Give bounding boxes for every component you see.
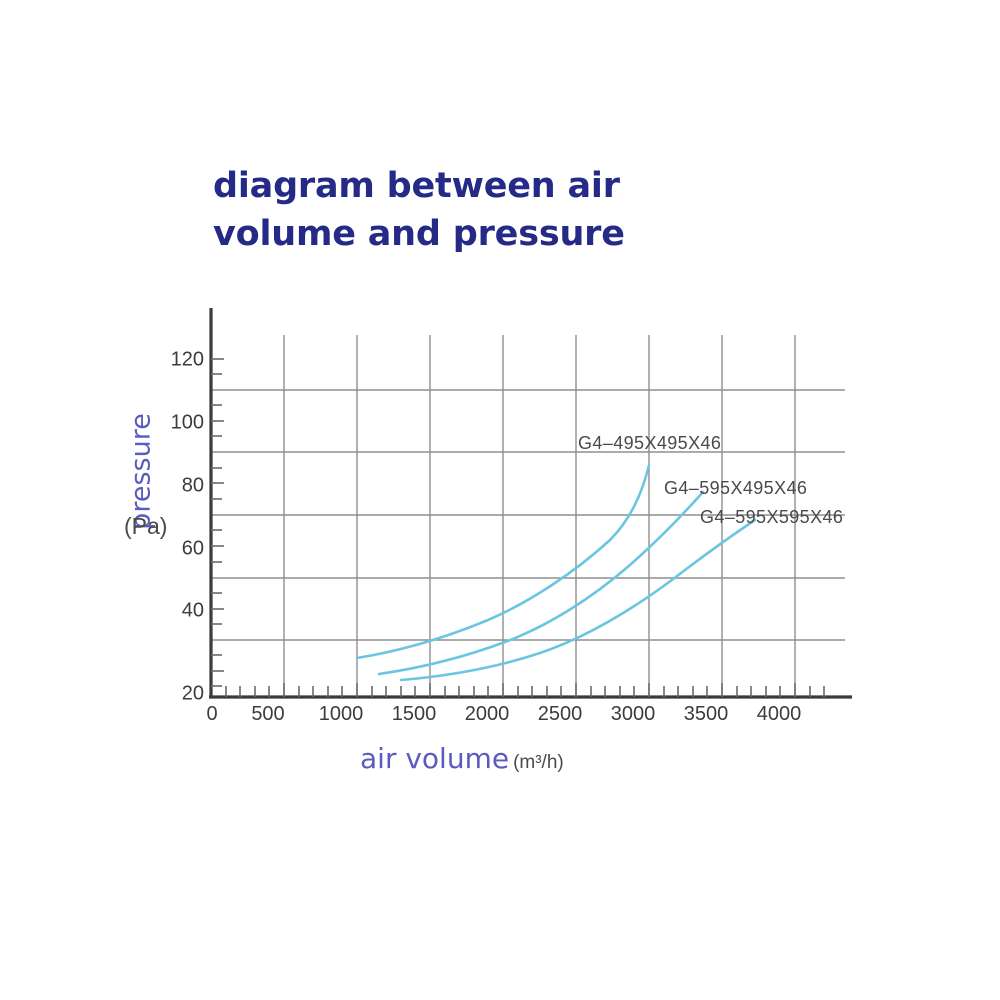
curve-g4-595x495x46 bbox=[379, 492, 703, 674]
series-label-g4-595x495x46: G4–595X495X46 bbox=[664, 478, 807, 499]
x-tick-0: 0 bbox=[206, 703, 217, 726]
x-tick-3500: 3500 bbox=[684, 703, 729, 726]
curve-g4-595x595x46 bbox=[401, 520, 755, 680]
y-axis-ticks bbox=[211, 359, 224, 686]
x-axis-unit: (m³/h) bbox=[513, 752, 564, 774]
x-tick-2500: 2500 bbox=[538, 703, 583, 726]
y-tick-120: 120 bbox=[168, 349, 204, 372]
x-axis-ticks bbox=[226, 683, 824, 697]
x-tick-1500: 1500 bbox=[392, 703, 437, 726]
y-tick-20: 20 bbox=[168, 683, 204, 706]
series-label-g4-595x595x46: G4–595X595X46 bbox=[700, 507, 843, 528]
y-tick-60: 60 bbox=[168, 538, 204, 561]
x-axis-title: air volume bbox=[360, 742, 509, 775]
chart-plot-area: 120 100 80 60 40 20 0 500 1000 1500 2000… bbox=[0, 0, 1000, 1000]
x-tick-2000: 2000 bbox=[465, 703, 510, 726]
chart-axes bbox=[209, 308, 852, 697]
x-tick-3000: 3000 bbox=[611, 703, 656, 726]
x-tick-4000: 4000 bbox=[757, 703, 802, 726]
chart-page: diagram between air volume and pressure bbox=[0, 0, 1000, 1000]
x-tick-500: 500 bbox=[251, 703, 284, 726]
y-axis-title-wrap: pressure bbox=[118, 380, 164, 570]
x-tick-1000: 1000 bbox=[319, 703, 364, 726]
x-axis-title-row: air volume (m³/h) bbox=[360, 742, 564, 775]
y-tick-40: 40 bbox=[168, 600, 204, 623]
y-axis-unit: (Pa) bbox=[124, 513, 167, 540]
series-label-g4-495x495x46: G4–495X495X46 bbox=[578, 433, 721, 454]
y-tick-80: 80 bbox=[168, 475, 204, 498]
y-tick-100: 100 bbox=[168, 412, 204, 435]
